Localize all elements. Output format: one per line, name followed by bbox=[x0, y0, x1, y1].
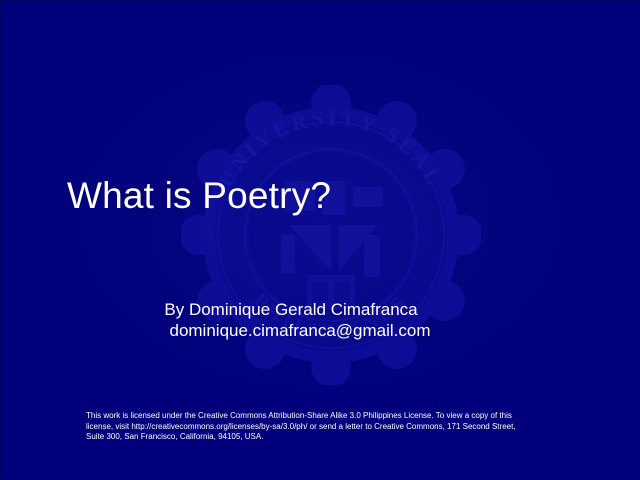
license-line-2: license, visit http://creativecommons.or… bbox=[86, 422, 578, 433]
slide-byline: By Dominique Gerald Cimafranca dominique… bbox=[61, 299, 521, 341]
background-gradient bbox=[1, 1, 639, 479]
slide-title: What is Poetry? bbox=[67, 175, 331, 217]
license-line-1: This work is licensed under the Creative… bbox=[86, 411, 578, 422]
presentation-slide: UNIVERSITY SEAL PHILIPPINES What i bbox=[0, 0, 640, 480]
license-line-3: Suite 300, San Francisco, California, 94… bbox=[86, 432, 578, 443]
byline-author: By Dominique Gerald Cimafranca bbox=[61, 299, 521, 320]
byline-email: dominique.cimafranca@gmail.com bbox=[61, 320, 521, 341]
license-notice: This work is licensed under the Creative… bbox=[86, 411, 578, 443]
